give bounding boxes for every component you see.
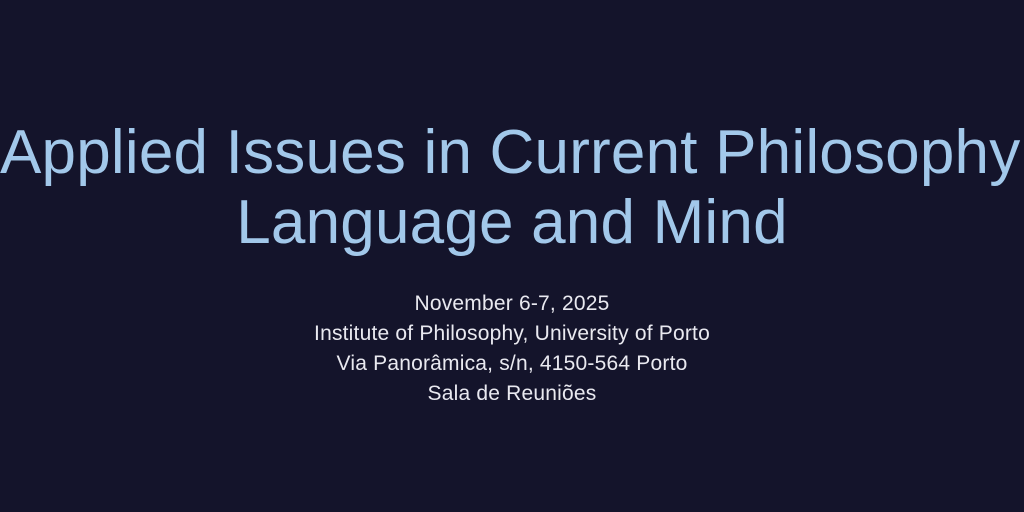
event-title-line-1: Applied Issues in Current Philosophy of (0, 118, 1024, 188)
event-institution: Institute of Philosophy, University of P… (0, 319, 1024, 349)
event-title-line-2: Language and Mind (0, 188, 1024, 258)
event-room: Sala de Reuniões (0, 379, 1024, 409)
title-slide: Applied Issues in Current Philosophy of … (0, 0, 1024, 512)
event-details: November 6-7, 2025 Institute of Philosop… (0, 289, 1024, 409)
event-address: Via Panorâmica, s/n, 4150-564 Porto (0, 349, 1024, 379)
event-title: Applied Issues in Current Philosophy of … (0, 118, 1024, 258)
event-dates: November 6-7, 2025 (0, 289, 1024, 319)
